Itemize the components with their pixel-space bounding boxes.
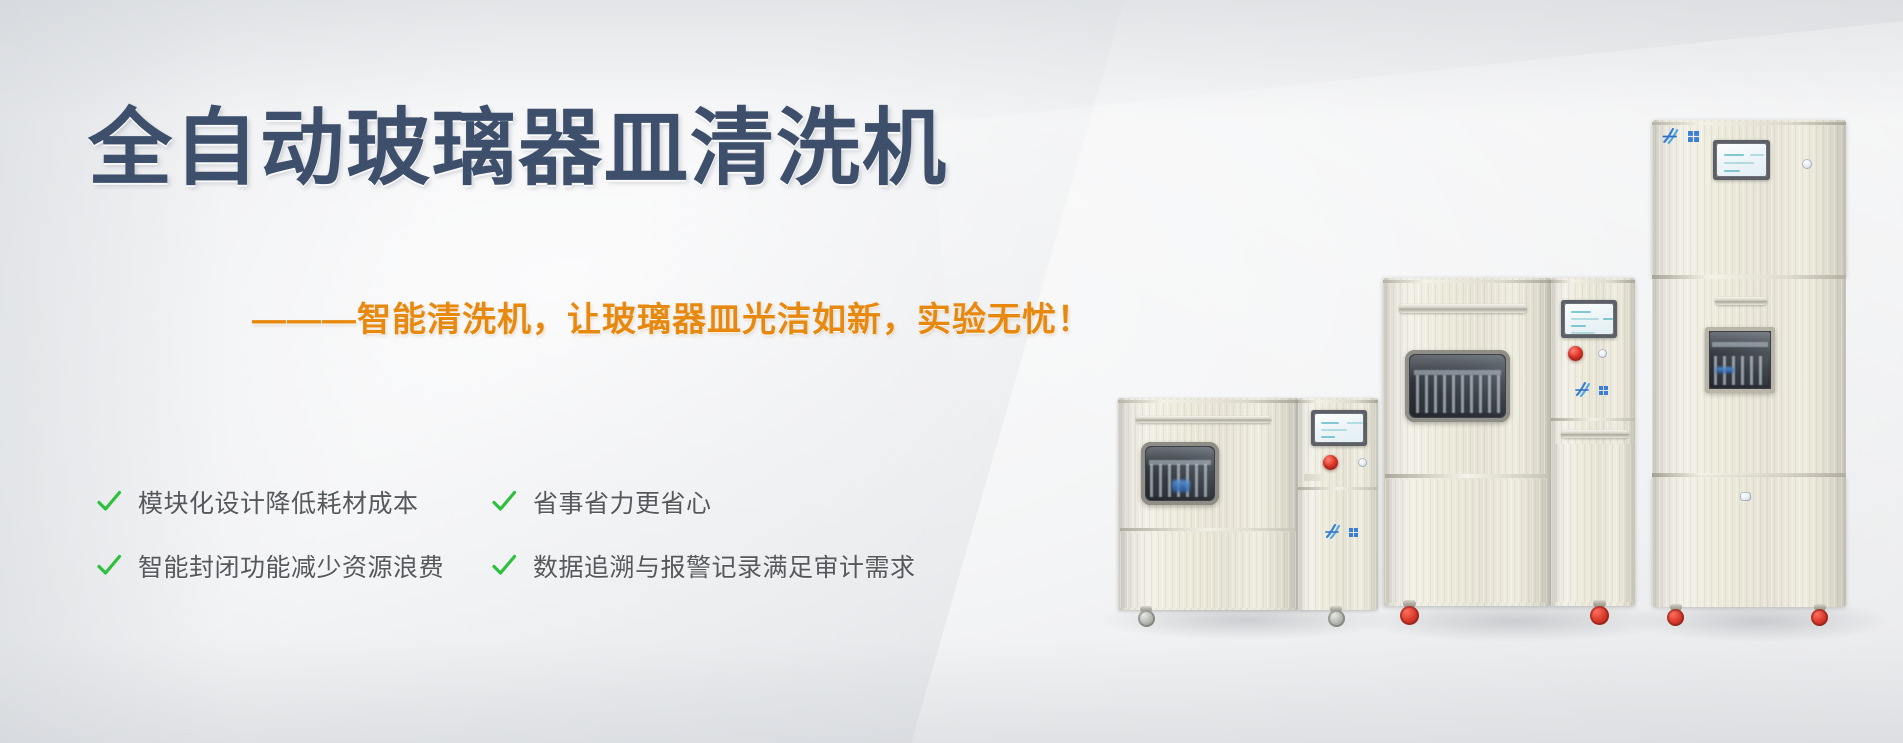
door-handle[interactable]	[1136, 416, 1271, 423]
touchscreen-icon[interactable]	[1713, 140, 1770, 180]
door-handle[interactable]	[1715, 297, 1767, 305]
indicator-light-icon	[1358, 458, 1367, 467]
touchscreen-icon[interactable]	[1311, 410, 1367, 446]
caster-wheel-icon	[1667, 609, 1684, 626]
product-floor-standing-glassware-washer	[1652, 120, 1846, 610]
viewing-window	[1141, 442, 1219, 505]
emergency-stop-icon[interactable]	[1323, 455, 1338, 470]
viewing-window	[1405, 350, 1510, 422]
caster-wheel-icon	[1811, 609, 1828, 626]
access-panel-handle[interactable]	[1561, 430, 1629, 438]
viewing-window	[1705, 327, 1775, 393]
touchscreen-icon[interactable]	[1561, 300, 1617, 338]
brand-logo-icon	[1662, 128, 1699, 145]
emergency-stop-icon[interactable]	[1568, 346, 1583, 361]
caster-wheel-icon	[1590, 606, 1609, 625]
product-banner: 全自动玻璃器皿清洗机 ———智能清洗机，让玻璃器皿光洁如新，实验无忧！ 模块化设…	[0, 0, 1903, 743]
product-benchtop-glassware-washer	[1118, 398, 1378, 610]
brand-logo-icon	[1325, 524, 1358, 540]
indicator-light-icon	[1802, 159, 1812, 169]
product-images	[0, 0, 1903, 743]
caster-wheel-icon	[1138, 610, 1155, 627]
product-undercounter-glassware-washer	[1383, 278, 1635, 606]
brand-logo-icon	[1575, 382, 1608, 398]
base-latch-icon[interactable]	[1740, 492, 1751, 501]
caster-wheel-icon	[1400, 606, 1419, 625]
caster-wheel-icon	[1328, 610, 1345, 627]
indicator-light-icon	[1598, 349, 1607, 358]
door-handle[interactable]	[1399, 304, 1527, 313]
